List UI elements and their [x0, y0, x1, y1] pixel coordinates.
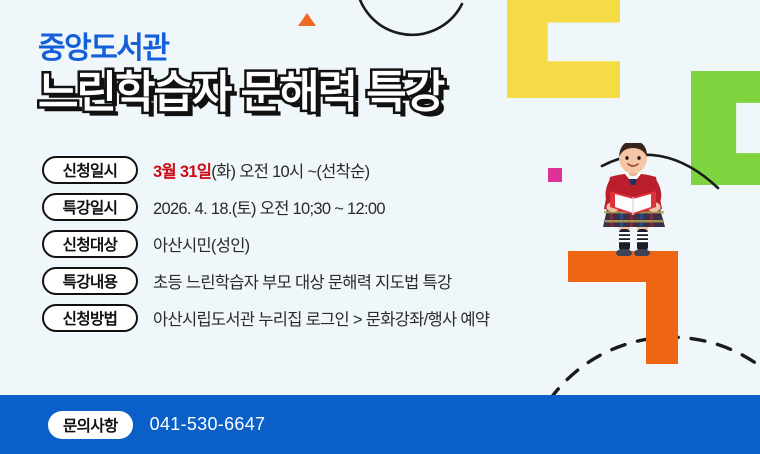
info-label-how-to-apply: 신청방법	[42, 304, 138, 332]
info-row-content: 특강내용 초등 느린학습자 부모 대상 문해력 지도법 특강	[42, 267, 489, 295]
contact-footer-bar: 문의사항 041-530-6647	[0, 395, 760, 454]
info-value-rest: (화) 오전 10시 ~(선착순)	[211, 163, 369, 181]
info-row-application-date: 신청일시 3월 31일(화) 오전 10시 ~(선착순)	[42, 156, 489, 184]
info-label-application-date: 신청일시	[42, 156, 138, 184]
info-label-audience: 신청대상	[42, 230, 138, 258]
contact-label: 문의사항	[48, 411, 133, 439]
poster-canvas: 중앙도서관 느린학습자 문해력 특강 신청일시 3월 31일(화) 오전 10시…	[0, 0, 760, 454]
organization-name: 중앙도서관	[38, 34, 443, 64]
info-label-lecture-date: 특강일시	[42, 193, 138, 221]
contact-phone-number[interactable]: 041-530-6647	[150, 414, 266, 435]
info-value-content: 초등 느린학습자 부모 대상 문해력 지도법 특강	[153, 269, 451, 293]
info-row-lecture-date: 특강일시 2026. 4. 18.(토) 오전 10;30 ~ 12:00	[42, 193, 489, 221]
info-value-application-date: 3월 31일(화) 오전 10시 ~(선착순)	[153, 158, 369, 182]
magenta-square-shape	[548, 168, 562, 182]
yellow-bracket-shape	[507, 0, 620, 98]
girl-reading-book-illustration	[580, 143, 690, 256]
info-row-audience: 신청대상 아산시민(성인)	[42, 230, 489, 258]
info-value-audience: 아산시민(성인)	[153, 232, 249, 256]
info-value-lecture-date: 2026. 4. 18.(토) 오전 10;30 ~ 12:00	[153, 195, 385, 219]
info-label-content: 특강내용	[42, 267, 138, 295]
info-list: 신청일시 3월 31일(화) 오전 10시 ~(선착순) 특강일시 2026. …	[42, 156, 489, 332]
info-row-how-to-apply: 신청방법 아산시립도서관 누리집 로그인 > 문화강좌/행사 예약	[42, 304, 489, 332]
info-value-accent: 3월 31일	[153, 163, 211, 181]
info-value-how-to-apply: 아산시립도서관 누리집 로그인 > 문화강좌/행사 예약	[153, 306, 489, 330]
page-title: 느린학습자 문해력 특강	[38, 70, 443, 116]
heading-block: 중앙도서관 느린학습자 문해력 특강	[38, 34, 443, 116]
orange-triangle-icon	[298, 13, 316, 26]
orange-stool-leg	[646, 251, 678, 364]
